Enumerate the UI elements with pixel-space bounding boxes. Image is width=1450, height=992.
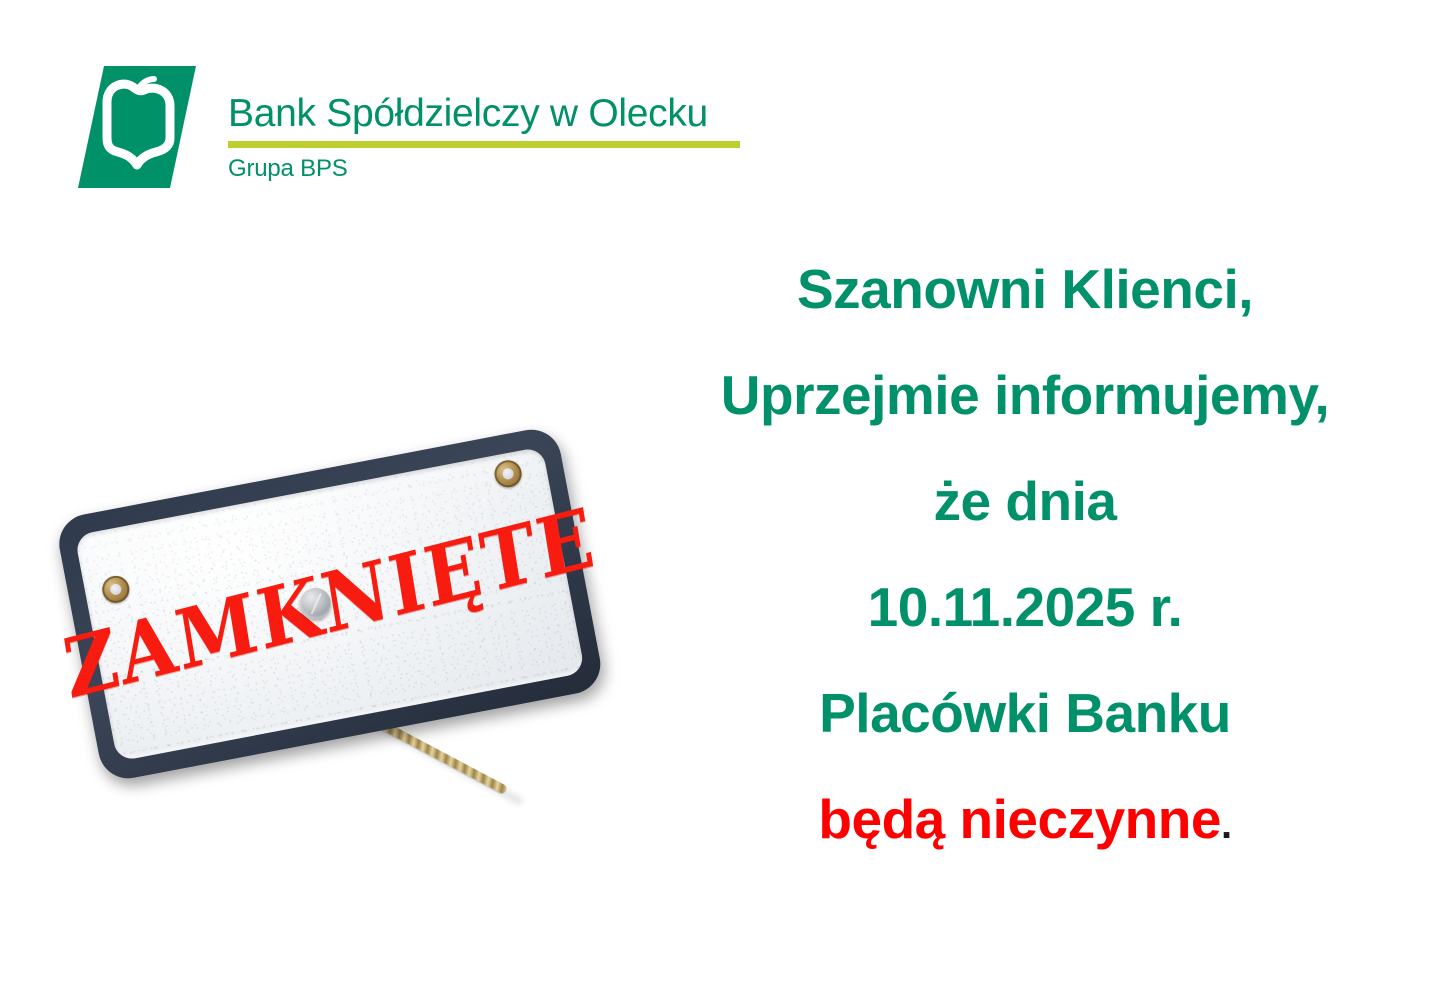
notice-line-date: 10.11.2025 r. (640, 554, 1410, 660)
bps-book-logo-icon (78, 66, 196, 188)
bank-name: Bank Spółdzielczy w Olecku (228, 60, 768, 138)
logo-text-wrap: Bank Spółdzielczy w Olecku Grupa BPS (228, 60, 768, 184)
nail-head-icon (300, 588, 331, 619)
notice-line-2: Uprzejmie informujemy, (640, 342, 1410, 448)
notice-closed-text: będą nieczynne (818, 788, 1221, 850)
hanging-sign: ZAMKNIĘTE (0, 280, 640, 800)
notice-line-3: że dnia (640, 448, 1410, 554)
notice-line-closed: będą nieczynne. (640, 766, 1410, 878)
brand-accent-rule (228, 141, 740, 148)
bank-logo-block: Bank Spółdzielczy w Olecku Grupa BPS (78, 60, 778, 190)
notice-line-1: Szanowni Klienci, (640, 236, 1410, 342)
notice-trailing-period: . (1221, 803, 1232, 847)
brand-group-label: Grupa BPS (228, 154, 768, 184)
notice-line-5: Placówki Banku (640, 660, 1410, 766)
notice-message: Szanowni Klienci, Uprzejmie informujemy,… (640, 236, 1410, 878)
poster-canvas: Bank Spółdzielczy w Olecku Grupa BPS ZAM… (0, 0, 1450, 992)
